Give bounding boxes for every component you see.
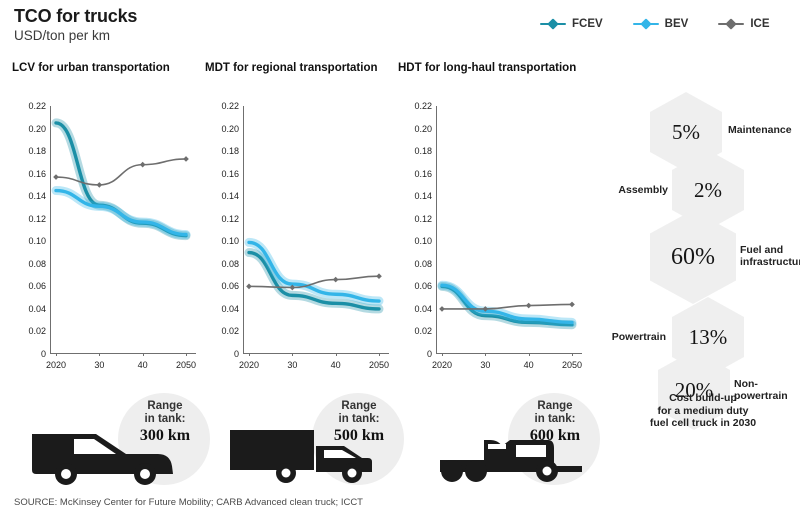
chart-title: HDT for long-haul transportation	[398, 62, 590, 90]
range-caption-line1: Range	[110, 400, 220, 413]
cost-hex-fuel-infrastructure[interactable]: 60%	[650, 210, 736, 304]
cost-hex-value: 5%	[672, 120, 700, 145]
chart-title: LCV for urban transportation	[12, 62, 204, 90]
cost-hex-label-fuel-infrastructure: Fuel and infrastructure	[740, 244, 800, 268]
legend-marker-icon	[718, 19, 744, 29]
page-subtitle: USD/ton per km	[14, 28, 110, 43]
legend-item-label: FCEV	[572, 18, 603, 30]
range-badge-hdt: Range in tank: 600 km	[500, 400, 610, 445]
series-marker-ice	[140, 162, 146, 168]
range-badge-mdt: Range in tank: 500 km	[304, 400, 414, 445]
cost-hex-label-maintenance: Maintenance	[728, 124, 800, 136]
range-caption-line2: in tank:	[304, 413, 414, 426]
cost-hex-label-assembly: Assembly	[608, 184, 668, 196]
cost-hex-value: 13%	[689, 325, 728, 350]
legend-item-ice[interactable]: ICE	[718, 18, 769, 30]
chart-panel-hdt: HDT for long-haul transportation 00.020.…	[398, 62, 590, 392]
caption-line: Cost build-up	[669, 392, 737, 404]
chart-panel-lcv: LCV for urban transportation 00.020.040.…	[12, 62, 204, 392]
chart-plot-area: 00.020.040.060.080.100.120.140.160.180.2…	[205, 100, 397, 372]
cost-buildup-caption: Cost build-up for a medium duty fuel cel…	[618, 392, 788, 430]
range-caption-line1: Range	[304, 400, 414, 413]
label-line: Non-	[734, 378, 758, 390]
series-marker-ice	[246, 284, 252, 290]
range-caption-line2: in tank:	[110, 413, 220, 426]
cost-hex-value: 2%	[694, 178, 722, 203]
chart-plot-area: 00.020.040.060.080.100.120.140.160.180.2…	[398, 100, 590, 372]
caption-line: fuel cell truck in 2030	[650, 417, 756, 429]
source-note: SOURCE: McKinsey Center for Future Mobil…	[14, 497, 363, 508]
range-caption-line2: in tank:	[500, 413, 610, 426]
range-caption-line1: Range	[500, 400, 610, 413]
chart-series-group	[398, 100, 590, 372]
legend-item-label: BEV	[665, 18, 689, 30]
series-marker-ice	[53, 174, 59, 180]
chart-panel-mdt: MDT for regional transportation 00.020.0…	[205, 62, 397, 392]
series-marker-ice	[333, 277, 339, 283]
chart-title: MDT for regional transportation	[205, 62, 397, 90]
label-line: Fuel and	[740, 244, 783, 256]
chart-series-group	[12, 100, 204, 372]
series-marker-ice	[569, 302, 575, 308]
cost-hex-label-powertrain: Powertrain	[600, 331, 666, 343]
series-marker-ice	[526, 303, 532, 309]
range-value: 500 km	[304, 426, 414, 445]
chart-plot-area: 00.020.040.060.080.100.120.140.160.180.2…	[12, 100, 204, 372]
legend-item-bev[interactable]: BEV	[633, 18, 689, 30]
label-line: infrastructure	[740, 256, 800, 268]
legend-item-fcev[interactable]: FCEV	[540, 18, 603, 30]
legend-item-label: ICE	[750, 18, 769, 30]
legend-marker-icon	[540, 19, 566, 29]
legend-marker-icon	[633, 19, 659, 29]
range-value: 600 km	[500, 426, 610, 445]
page-title: TCO for trucks	[14, 6, 137, 27]
series-marker-ice	[376, 273, 382, 279]
caption-line: for a medium duty	[657, 405, 748, 417]
series-marker-ice	[97, 182, 103, 188]
range-value: 300 km	[110, 426, 220, 445]
series-marker-ice	[183, 156, 189, 162]
cost-hex-value: 60%	[671, 244, 715, 271]
cost-buildup-chart: 5% Maintenance 2% Assembly 60% Fuel and …	[600, 92, 800, 392]
range-badge-lcv: Range in tank: 300 km	[110, 400, 220, 445]
series-marker-ice	[439, 306, 445, 312]
series-line-bev[interactable]	[56, 191, 186, 235]
chart-legend: FCEV BEV ICE	[540, 18, 770, 30]
chart-series-group	[205, 100, 397, 372]
